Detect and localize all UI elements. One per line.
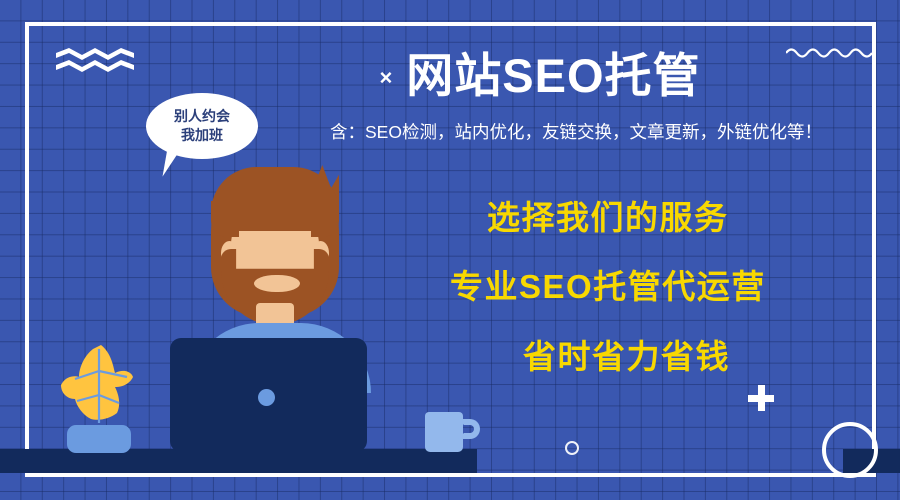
corner-circle-icon bbox=[822, 422, 878, 478]
hair-sideburn-right-shape bbox=[311, 201, 339, 237]
subtitle-text: 含：SEO检测，站内优化，友链交换，文章更新，外链优化等！ bbox=[330, 122, 890, 143]
laptop-logo-dot bbox=[258, 389, 275, 406]
slogan-line-3: 省时省力省钱 bbox=[523, 340, 730, 373]
wave-left-icon bbox=[56, 47, 134, 73]
page-title: 网站SEO托管 bbox=[406, 52, 700, 99]
frame-left-border bbox=[25, 22, 29, 477]
potted-plant-icon bbox=[55, 345, 147, 455]
plant-pot-shape bbox=[67, 425, 131, 453]
hair-sideburn-left-shape bbox=[211, 201, 239, 237]
slogan-line-1: 选择我们的服务 bbox=[487, 201, 729, 234]
coffee-mug-handle bbox=[458, 419, 480, 439]
mouth-shape bbox=[254, 275, 300, 292]
frame-bottom-border bbox=[25, 473, 876, 477]
plus-mark-icon bbox=[748, 385, 774, 411]
plant-leaf-shape bbox=[57, 343, 143, 433]
frame-right-border bbox=[872, 22, 876, 477]
speech-bubble-line-1: 别人约会 bbox=[174, 107, 230, 126]
seo-promo-banner: × 网站SEO托管 含：SEO检测，站内优化，友链交换，文章更新，外链优化等！ … bbox=[0, 0, 900, 500]
wave-right-icon bbox=[786, 46, 872, 60]
headline-row: × 网站SEO托管 bbox=[330, 44, 750, 106]
speech-bubble: 别人约会 我加班 bbox=[146, 93, 258, 159]
frame-top-border bbox=[25, 22, 876, 26]
speech-bubble-line-2: 我加班 bbox=[181, 126, 223, 145]
title-cross-icon: × bbox=[379, 67, 392, 89]
small-circle-icon bbox=[565, 441, 579, 455]
slogan-line-2: 专业SEO托管代运营 bbox=[450, 270, 766, 303]
